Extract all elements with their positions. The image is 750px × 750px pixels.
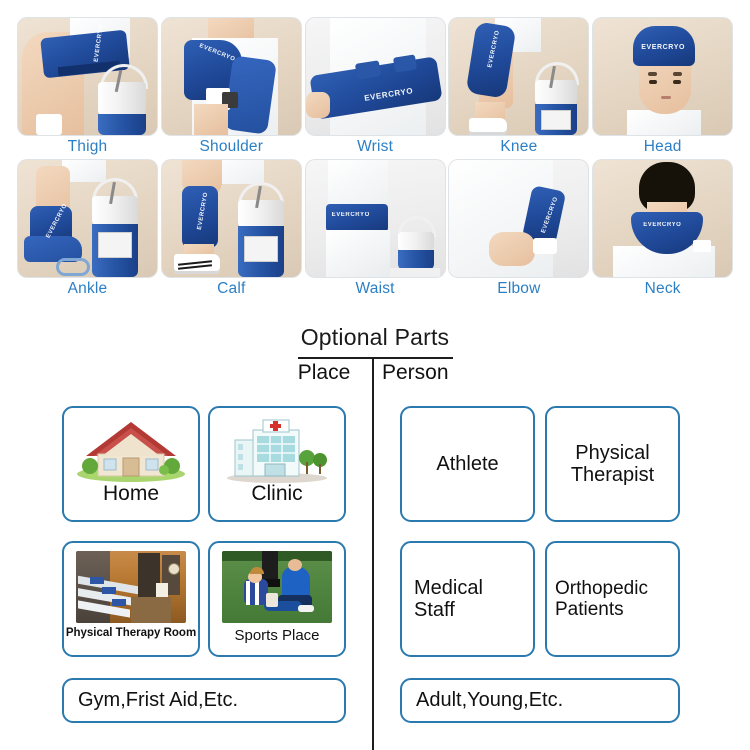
column-divider [372, 358, 374, 750]
photo-cell-neck[interactable]: EVERCRYO Neck [593, 160, 732, 300]
photo-cell-waist[interactable]: EVERCRYO Waist [306, 160, 445, 300]
place-card-ptroom-label: Physical Therapy Room [64, 627, 198, 639]
photo-caption-wrist: Wrist [306, 135, 445, 158]
title-underline-rule [298, 357, 453, 359]
house-icon [72, 416, 190, 482]
photo-row-1: EVERCRYO Thigh EVERCRYO [18, 18, 732, 158]
photo-caption-knee: Knee [449, 135, 588, 158]
photo-caption-thigh: Thigh [18, 135, 157, 158]
place-card-clinic-label: Clinic [210, 482, 344, 506]
photo-caption-calf: Calf [162, 277, 301, 300]
person-card-physical-therapist[interactable]: Physical Therapist [545, 406, 680, 522]
photo-neck: EVERCRYO [593, 160, 732, 277]
photo-wrist: EVERCRYO [306, 18, 445, 135]
photo-cell-thigh[interactable]: EVERCRYO Thigh [18, 18, 157, 158]
optional-parts-title: Optional Parts [0, 324, 750, 351]
person-card-orthopedic-patients-label: Orthopedic Patients [547, 543, 678, 655]
person-footer-bar[interactable]: Adult,Young,Etc. [400, 678, 680, 723]
person-card-athlete-label: Athlete [402, 408, 533, 520]
place-card-sports-place[interactable]: Sports Place [208, 541, 346, 657]
photo-shoulder: EVERCRYO [162, 18, 301, 135]
photo-caption-neck: Neck [593, 277, 732, 300]
photo-cell-ankle[interactable]: EVERCRYO Ankle [18, 160, 157, 300]
photo-elbow: EVERCRYO [449, 160, 588, 277]
photo-head: EVERCRYO [593, 18, 732, 135]
place-card-home[interactable]: Home [62, 406, 200, 522]
place-card-home-label: Home [64, 482, 198, 506]
place-footer-label: Gym,Frist Aid,Etc. [78, 680, 238, 721]
person-card-physical-therapist-label: Physical Therapist [547, 408, 678, 520]
photo-cell-calf[interactable]: EVERCRYO Calf [162, 160, 301, 300]
photo-cell-wrist[interactable]: EVERCRYO Wrist [306, 18, 445, 158]
column-header-place: Place [280, 361, 368, 385]
person-card-medical-staff-label: Medical Staff [402, 543, 533, 655]
sports-place-photo [222, 551, 332, 623]
place-card-physical-therapy-room[interactable]: Physical Therapy Room [62, 541, 200, 657]
place-card-sports-label: Sports Place [210, 627, 344, 644]
photo-cell-shoulder[interactable]: EVERCRYO Shoulder [162, 18, 301, 158]
photo-caption-shoulder: Shoulder [162, 135, 301, 158]
photo-thigh: EVERCRYO [18, 18, 157, 135]
photo-row-2: EVERCRYO Ankle EVERCRYO [18, 160, 732, 300]
physical-therapy-room-photo [76, 551, 186, 623]
place-footer-bar[interactable]: Gym,Frist Aid,Etc. [62, 678, 346, 723]
photo-caption-ankle: Ankle [18, 277, 157, 300]
body-parts-photo-grid: EVERCRYO Thigh EVERCRYO [0, 0, 750, 310]
photo-cell-knee[interactable]: EVERCRYO Knee [449, 18, 588, 158]
photo-caption-head: Head [593, 135, 732, 158]
photo-caption-waist: Waist [306, 277, 445, 300]
photo-caption-elbow: Elbow [449, 277, 588, 300]
person-footer-label: Adult,Young,Etc. [416, 680, 563, 721]
photo-knee: EVERCRYO [449, 18, 588, 135]
photo-ankle: EVERCRYO [18, 160, 157, 277]
person-card-medical-staff[interactable]: Medical Staff [400, 541, 535, 657]
photo-cell-head[interactable]: EVERCRYO Head [593, 18, 732, 158]
column-header-person: Person [382, 361, 492, 385]
photo-cell-elbow[interactable]: EVERCRYO Elbow [449, 160, 588, 300]
photo-calf: EVERCRYO [162, 160, 301, 277]
photo-waist: EVERCRYO [306, 160, 445, 277]
place-card-clinic[interactable]: Clinic [208, 406, 346, 522]
person-card-orthopedic-patients[interactable]: Orthopedic Patients [545, 541, 680, 657]
clinic-icon [221, 414, 333, 484]
person-card-athlete[interactable]: Athlete [400, 406, 535, 522]
